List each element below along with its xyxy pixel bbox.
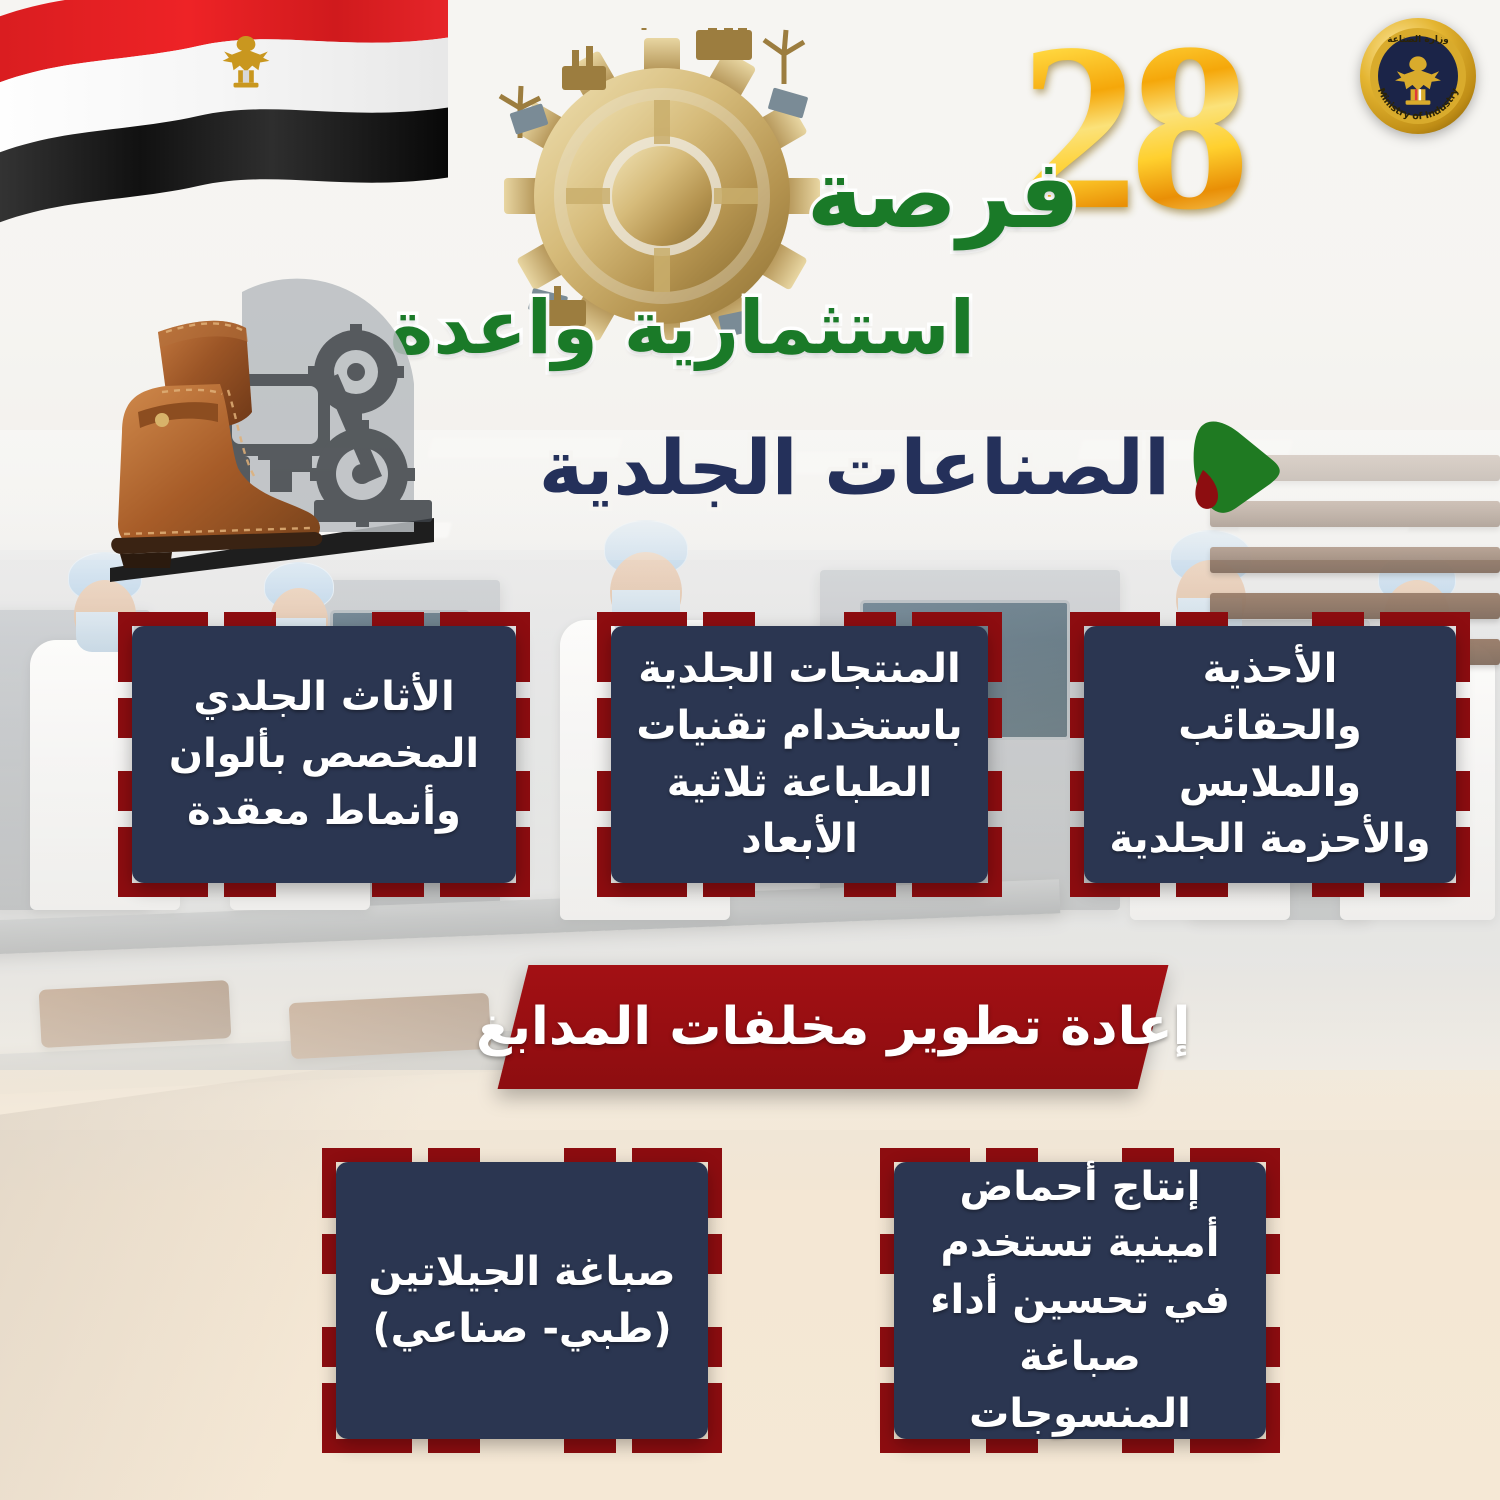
svg-text:وزارة الصناعة: وزارة الصناعة: [1387, 35, 1448, 45]
opportunity-card-label: الأحذية والحقائب والملابس والأحزمة الجلد…: [1104, 641, 1436, 868]
opportunity-card-gelatin-dyeing-medical-industrial[interactable]: صباغة الجيلاتين (طبي- صناعي): [322, 1148, 722, 1453]
opportunity-card-label: إنتاج أحماض أمينية تستخدم في تحسين أداء …: [914, 1159, 1246, 1443]
sector-subtitle-bar: الصناعات الجلدية: [539, 412, 1290, 522]
egypt-flag: [0, 0, 448, 248]
opportunity-card-label: الأثاث الجلدي المخصص بألوان وأنماط معقدة: [152, 669, 496, 839]
opportunity-card-label: صباغة الجيلاتين (طبي- صناعي): [356, 1244, 688, 1358]
infographic-poster: وزارة الصناعة Ministry of Industry: [0, 0, 1500, 1500]
opportunity-card-amino-acids-textile-dyeing[interactable]: إنتاج أحماض أمينية تستخدم في تحسين أداء …: [880, 1148, 1280, 1453]
opportunity-card-custom-leather-furniture[interactable]: الأثاث الجلدي المخصص بألوان وأنماط معقدة: [118, 612, 530, 897]
play-triangle-icon: [1184, 412, 1290, 522]
opportunity-card-footwear-bags-clothing-belts[interactable]: الأحذية والحقائب والملابس والأحزمة الجلد…: [1070, 612, 1470, 897]
banner-label: إعادة تطوير مخلفات المدابغ: [476, 997, 1190, 1057]
opportunity-card-label: المنتجات الجلدية باستخدام تقنيات الطباعة…: [631, 641, 968, 868]
leather-boot-graphic: [62, 262, 462, 582]
opportunity-card-leather-products-3d-printing[interactable]: المنتجات الجلدية باستخدام تقنيات الطباعة…: [597, 612, 1002, 897]
tannery-waste-banner: إعادة تطوير مخلفات المدابغ: [498, 965, 1169, 1089]
headline-line-2: استثمارية واعدة: [390, 285, 975, 371]
sector-title: الصناعات الجلدية: [539, 420, 1170, 515]
ministry-of-industry-logo: وزارة الصناعة Ministry of Industry: [1358, 16, 1478, 136]
headline-line-1: فرصة: [806, 138, 1080, 250]
